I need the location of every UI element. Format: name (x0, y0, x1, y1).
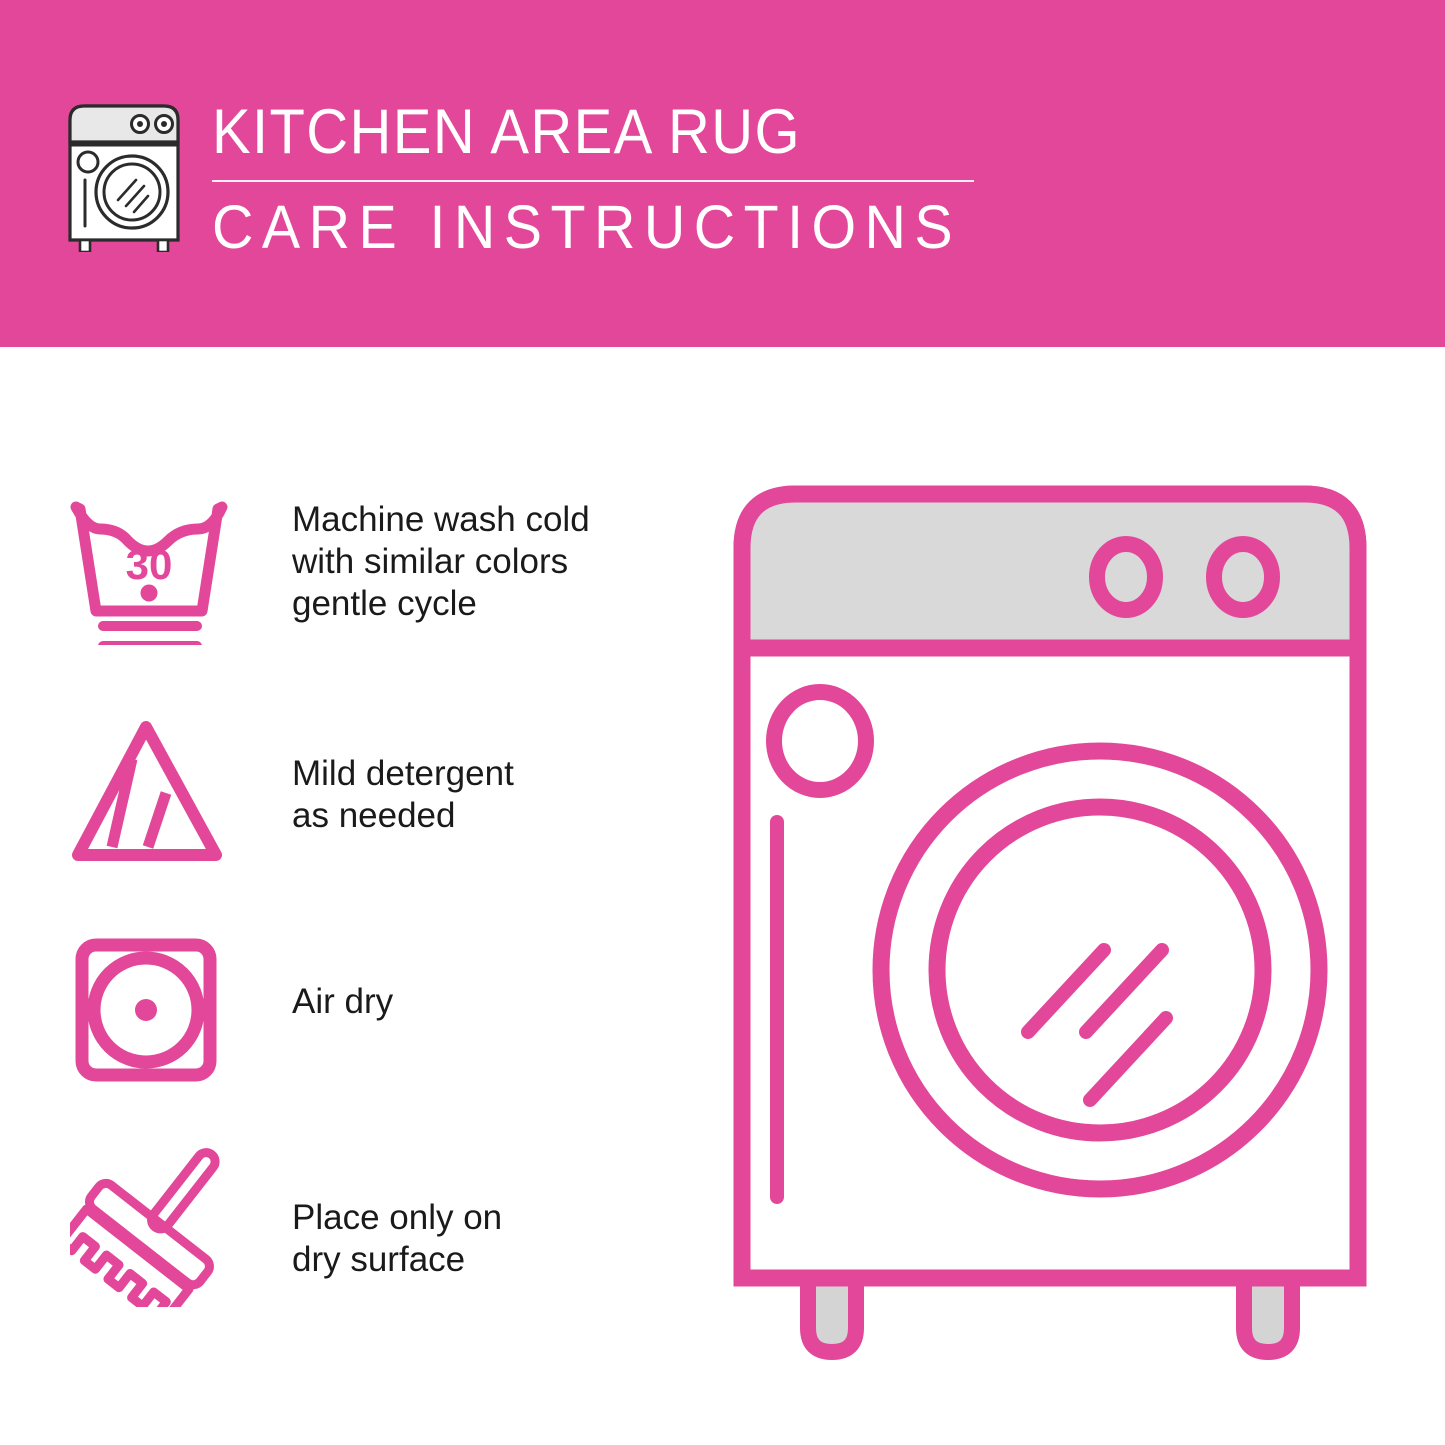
care-item-mild-detergent: Mild detergent as needed (70, 715, 630, 865)
header-banner: KITCHEN AREA RUG CARE INSTRUCTIONS (0, 0, 1445, 347)
care-item-label: Mild detergent as needed (240, 715, 514, 837)
leg-right (1244, 1278, 1292, 1352)
page-title: KITCHEN AREA RUG (212, 96, 945, 168)
title-divider (212, 180, 974, 182)
care-item-label: Machine wash cold with similar colors ge… (240, 495, 590, 625)
header-content: KITCHEN AREA RUG CARE INSTRUCTIONS (62, 96, 1009, 262)
washing-machine-illustration (700, 460, 1400, 1380)
symbol-slot (70, 1147, 240, 1307)
broom-icon (70, 1147, 240, 1307)
care-item-air-dry: Air dry (70, 935, 630, 1085)
care-item-label: Air dry (240, 935, 393, 1023)
symbol-slot (70, 935, 240, 1085)
bleach-triangle-icon (70, 715, 230, 865)
wash-temperature-label: 30 (126, 541, 173, 588)
care-instruction-list: 30 Machine wash cold with similar colors… (0, 347, 660, 1445)
page-subtitle: CARE INSTRUCTIONS (212, 192, 961, 262)
care-item-machine-wash: 30 Machine wash cold with similar colors… (70, 495, 630, 645)
care-item-label: Place only on dry surface (240, 1147, 502, 1281)
symbol-slot: 30 (70, 495, 240, 645)
symbol-slot (70, 715, 240, 865)
tumble-dry-icon (70, 935, 230, 1085)
leg-left (808, 1278, 856, 1352)
care-item-dry-surface: Place only on dry surface (70, 1147, 630, 1307)
header-title-block: KITCHEN AREA RUG CARE INSTRUCTIONS (212, 96, 1009, 262)
washing-machine-icon (62, 100, 186, 252)
wash-tub-30-icon: 30 (70, 495, 230, 645)
